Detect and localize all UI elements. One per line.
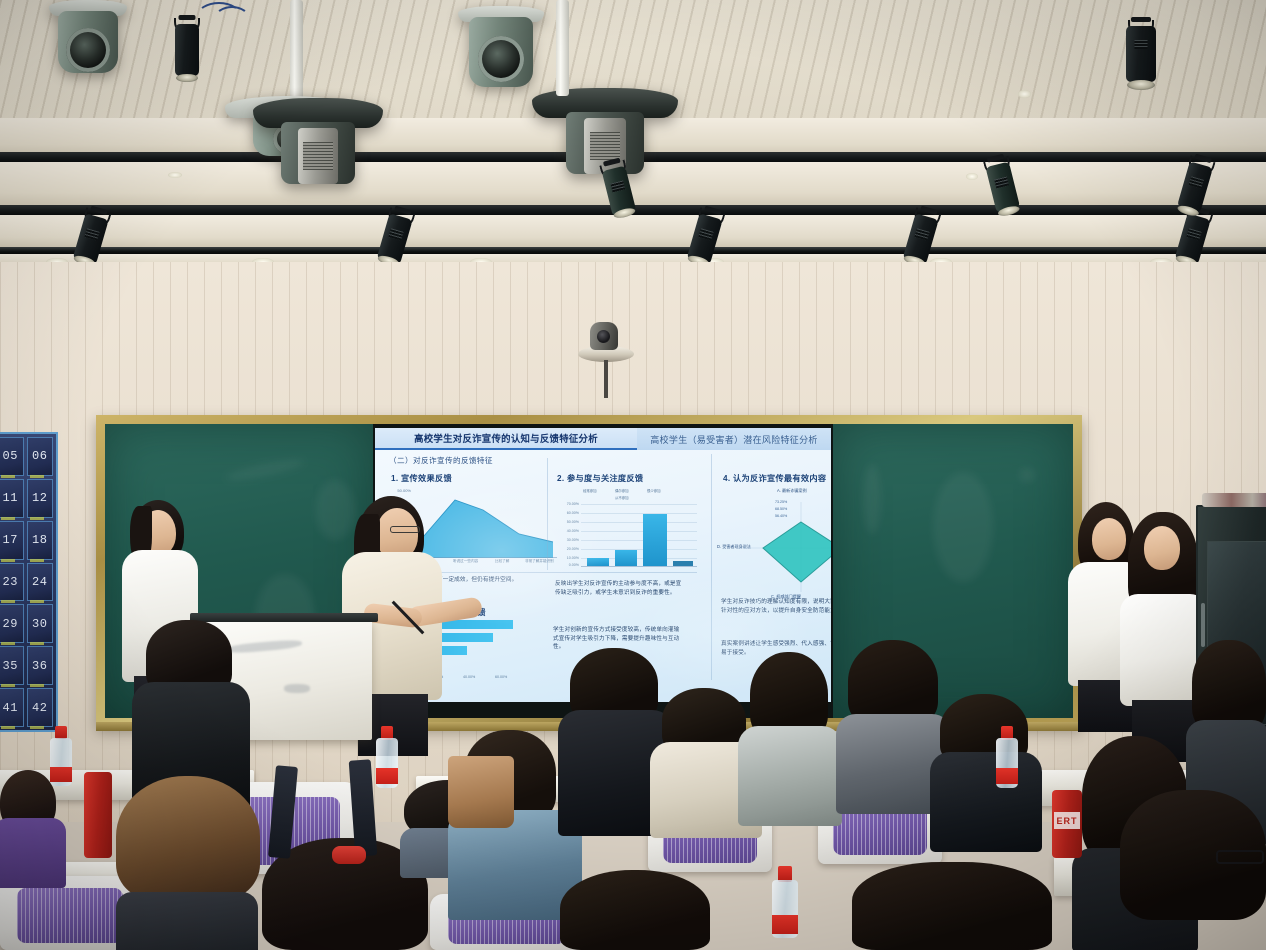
ceiling-projector — [248, 98, 388, 206]
locker-cell[interactable]: 42 — [27, 688, 54, 727]
track-spotlight — [1124, 10, 1158, 86]
locker-cell[interactable]: 17 — [0, 521, 24, 560]
bar-chart-ytick: 70.00% — [567, 502, 581, 506]
locker-cell[interactable]: 41 — [0, 688, 24, 727]
downlight-icon — [1018, 90, 1031, 98]
bar-chart-ytick: 10.00% — [567, 556, 581, 560]
bar-chart-legend: 偶尔参加 — [615, 488, 629, 493]
audience-member — [110, 776, 264, 950]
audience-member — [742, 652, 838, 818]
ceiling-rail — [0, 247, 1266, 254]
area-chart-xlabel: 非常了解并能识别 — [525, 559, 554, 564]
bar-chart-title: 2. 参与度与关注度反馈 — [557, 472, 643, 484]
bar-chart-ytick: 40.00% — [567, 529, 581, 533]
bar-chart-ytick: 20.00% — [567, 547, 581, 551]
bar-chart-legend: 从不参加 — [615, 495, 629, 500]
bar-chart: 经常参加 偶尔参加 很少参加 从不参加 70.00% 60.00% 50.00%… — [581, 504, 697, 566]
rack-top-items — [1202, 493, 1266, 507]
locker-cell[interactable]: 05 — [0, 437, 24, 476]
locker-cell[interactable]: 36 — [27, 646, 54, 685]
locker-cell[interactable]: 24 — [27, 563, 54, 602]
bar-chart-note: 反映出学生对反诈宣传的主动参与度不高，或是宣传缺乏吸引力，或学生未意识到反诈的重… — [555, 580, 685, 597]
downlight-icon — [966, 173, 978, 180]
bar-chart-legend: 很少参加 — [647, 488, 661, 493]
locker-cell[interactable]: 30 — [27, 604, 54, 643]
conduit-pipe — [556, 0, 569, 96]
blue-cable — [214, 6, 250, 32]
locker-cell[interactable]: 23 — [0, 563, 24, 602]
tab-cognition-feedback[interactable]: 高校学生对反诈宣传的认知与反馈特征分析 — [375, 428, 637, 450]
area-chart-ytick: 50.00% — [397, 488, 413, 493]
downlight-icon — [168, 172, 182, 178]
radar-chart-plot — [715, 486, 831, 604]
bar-chart-ytick: 60.00% — [567, 511, 581, 515]
tab-risk-profile[interactable]: 高校学生（易受害者）潜在风险特征分析 — [637, 428, 831, 450]
water-bottle[interactable] — [996, 726, 1018, 788]
area-chart-title: 1. 宣传效果反馈 — [391, 472, 452, 484]
locker-cell[interactable]: 35 — [0, 646, 24, 685]
ceiling-soffit-lower — [0, 215, 1266, 249]
bar-chart-bar — [643, 514, 667, 566]
ptz-camera-ceiling — [38, 0, 138, 96]
audience-member — [0, 770, 58, 880]
locker-cell[interactable]: 18 — [27, 521, 54, 560]
radar-chart: A. 最新诈骗案例 B. 防范技巧讲解 C. 权威部门提醒 D. 受害者现身说法… — [715, 486, 831, 604]
bar-chart-legend: 经常参加 — [583, 488, 597, 493]
locker-cell[interactable]: 12 — [27, 479, 54, 518]
bar-chart-bar — [673, 561, 693, 566]
red-thermos-bottle[interactable]: ERT — [1052, 790, 1082, 858]
audience-member — [560, 870, 710, 950]
area-chart-xlabel: 比较了解 — [495, 559, 509, 564]
hbar-chart-xtick: 60.00% — [495, 675, 507, 679]
bar-chart-bar — [615, 550, 637, 566]
hbar-chart-xtick: 40.00% — [463, 675, 475, 679]
bar-chart-ytick: 0.00% — [569, 563, 581, 567]
thermos-label: ERT — [1054, 812, 1079, 830]
locker-cell[interactable]: 11 — [0, 479, 24, 518]
strap-clip — [332, 846, 366, 864]
water-bottle[interactable] — [772, 866, 798, 938]
glasses-icon — [390, 526, 420, 533]
red-thermos-bottle[interactable] — [84, 772, 112, 858]
handbag[interactable] — [448, 756, 514, 828]
water-bottle[interactable] — [376, 726, 398, 788]
water-bottle[interactable] — [50, 726, 72, 786]
locker-cell[interactable]: 29 — [0, 604, 24, 643]
bar-chart-ytick: 30.00% — [567, 538, 581, 542]
bar-chart-bar — [587, 558, 609, 566]
radar-chart-note-1: 学生对反诈技巧的理解认知度有限，说明大家更倾向于掌握针对性的应对方法，以提升自身… — [721, 598, 831, 615]
numbered-locker-cabinet[interactable]: 05 06 11 12 17 18 23 24 29 30 35 36 41 4… — [0, 432, 58, 732]
wall-mounted-ptz-camera — [578, 318, 634, 404]
lecture-hall-photo: 05 06 11 12 17 18 23 24 29 30 35 36 41 4… — [0, 0, 1266, 950]
locker-cell[interactable]: 06 — [27, 437, 54, 476]
audience-member — [852, 862, 1052, 950]
radar-chart-title: 4. 认为反诈宣传最有效内容 — [723, 472, 826, 484]
bar-chart-ytick: 50.00% — [567, 520, 581, 524]
audience-member — [1120, 790, 1266, 950]
audience-member — [934, 694, 1038, 844]
slide-section-heading: （二）对反诈宣传的反馈特征 — [389, 455, 493, 466]
area-chart-xlabel: 听说过一些内容 — [453, 559, 478, 564]
head — [1144, 526, 1180, 570]
slide-tab-bar: 高校学生对反诈宣传的认知与反馈特征分析 高校学生（易受害者）潜在风险特征分析 — [375, 428, 831, 450]
glasses-icon — [1216, 850, 1264, 864]
